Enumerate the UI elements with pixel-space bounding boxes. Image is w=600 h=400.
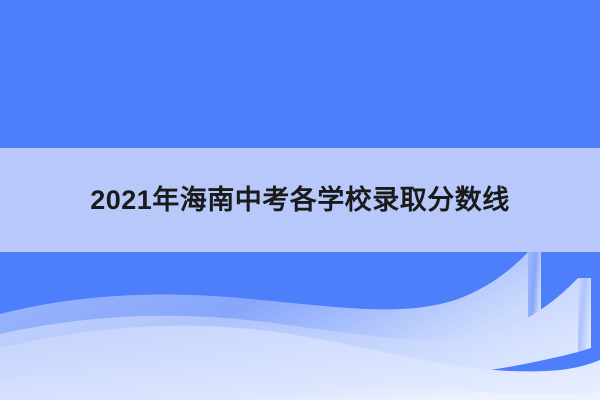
top-blue-panel (0, 0, 600, 148)
page-title: 2021年海南中考各学校录取分数线 (90, 187, 510, 214)
wave-layer-middle-tail (578, 278, 591, 352)
title-band: 2021年海南中考各学校录取分数线 (0, 148, 600, 252)
banner-image: 2021年海南中考各学校录取分数线 (0, 0, 600, 400)
layered-wave-graphic (0, 252, 600, 400)
